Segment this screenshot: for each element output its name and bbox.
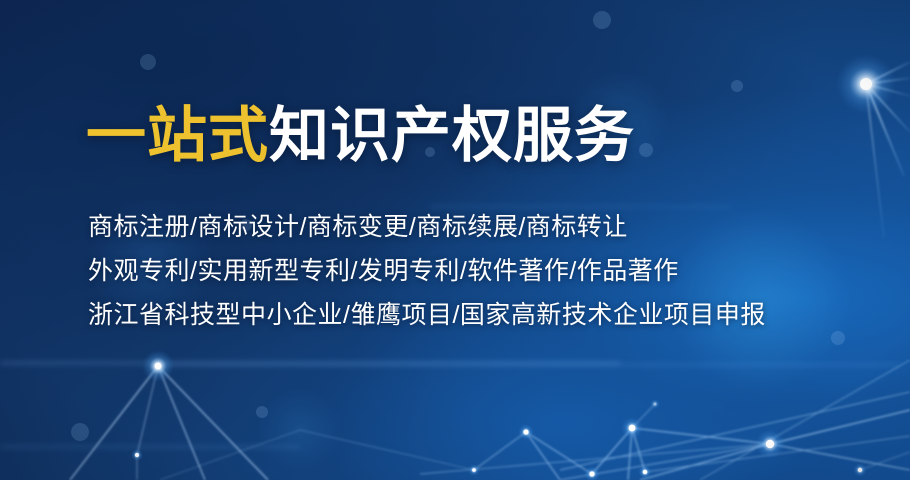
headline: 一站式知识产权服务 <box>86 104 846 169</box>
promo-banner: 一站式知识产权服务 商标注册/商标设计/商标变更/商标续展/商标转让 外观专利/… <box>0 0 910 480</box>
service-line: 商标注册/商标设计/商标变更/商标续展/商标转让 <box>88 205 846 249</box>
service-line: 外观专利/实用新型专利/发明专利/软件著作/作品著作 <box>88 249 846 293</box>
headline-highlight: 一站式 <box>86 102 269 169</box>
service-line-list: 商标注册/商标设计/商标变更/商标续展/商标转让 外观专利/实用新型专利/发明专… <box>88 205 846 337</box>
headline-rest: 知识产权服务 <box>269 102 635 169</box>
service-line: 浙江省科技型中小企业/雏鹰项目/国家高新技术企业项目申报 <box>88 293 846 337</box>
banner-content: 一站式知识产权服务 商标注册/商标设计/商标变更/商标续展/商标转让 外观专利/… <box>86 104 846 337</box>
